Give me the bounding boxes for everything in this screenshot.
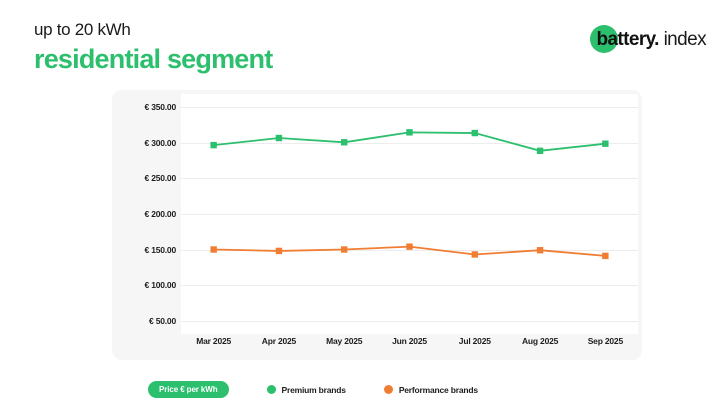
y-axis-tick-label: € 200.00 (116, 209, 176, 219)
data-point-marker[interactable] (276, 248, 282, 254)
y-axis-tick-label: € 350.00 (116, 102, 176, 112)
logo-suffix: index (664, 29, 706, 50)
x-axis-tick-label: Sep 2025 (588, 336, 623, 346)
data-point-marker[interactable] (341, 139, 347, 145)
x-axis-tick-label: Mar 2025 (196, 336, 231, 346)
logo-text: battery. index (592, 29, 706, 51)
data-point-marker[interactable] (210, 246, 216, 252)
x-axis-tick-label: Apr 2025 (262, 336, 296, 346)
y-axis-tick-label: € 150.00 (116, 245, 176, 255)
plot-area (181, 94, 638, 334)
data-point-marker[interactable] (406, 129, 412, 135)
y-axis-tick-label: € 300.00 (116, 138, 176, 148)
chart-panel: € 350.00€ 300.00€ 250.00€ 200.00€ 150.00… (112, 90, 642, 360)
x-axis-tick-label: Aug 2025 (522, 336, 558, 346)
data-point-marker[interactable] (406, 243, 412, 249)
legend-label-premium: Premium brands (282, 385, 346, 395)
header: up to 20 kWh residential segment (34, 20, 272, 77)
page-title: residential segment (34, 43, 272, 77)
data-point-marker[interactable] (602, 253, 608, 259)
legend-pill-price: Price € per kWh (148, 381, 229, 398)
legend-label-performance: Performance brands (399, 385, 478, 395)
legend-dot-performance-icon (384, 385, 393, 394)
y-axis-tick-label: € 250.00 (116, 173, 176, 183)
x-axis-tick-label: Jul 2025 (459, 336, 491, 346)
legend-dot-premium-icon (267, 385, 276, 394)
x-axis-labels: Mar 2025Apr 2025May 2025Jun 2025Jul 2025… (181, 336, 638, 354)
x-axis-tick-label: Jun 2025 (392, 336, 427, 346)
y-axis-labels: € 350.00€ 300.00€ 250.00€ 200.00€ 150.00… (112, 94, 176, 334)
y-axis-tick-label: € 100.00 (116, 280, 176, 290)
data-point-marker[interactable] (602, 141, 608, 147)
data-point-marker[interactable] (276, 135, 282, 141)
x-axis-tick-label: May 2025 (326, 336, 362, 346)
series-lines (181, 94, 638, 334)
data-point-marker[interactable] (210, 142, 216, 148)
data-point-marker[interactable] (341, 246, 347, 252)
data-point-marker[interactable] (537, 247, 543, 253)
legend-item-performance[interactable]: Performance brands (384, 385, 478, 395)
kicker-text: up to 20 kWh (34, 20, 272, 40)
chart-legend: Price € per kWh Premium brands Performan… (148, 381, 478, 398)
brand-logo: battery. index (592, 23, 706, 57)
slide-root: up to 20 kWh residential segment battery… (0, 0, 728, 410)
data-point-marker[interactable] (472, 251, 478, 257)
legend-item-premium[interactable]: Premium brands (267, 385, 346, 395)
logo-brand: battery. (596, 29, 658, 50)
data-point-marker[interactable] (537, 148, 543, 154)
data-point-marker[interactable] (472, 130, 478, 136)
y-axis-tick-label: € 50.00 (116, 316, 176, 326)
